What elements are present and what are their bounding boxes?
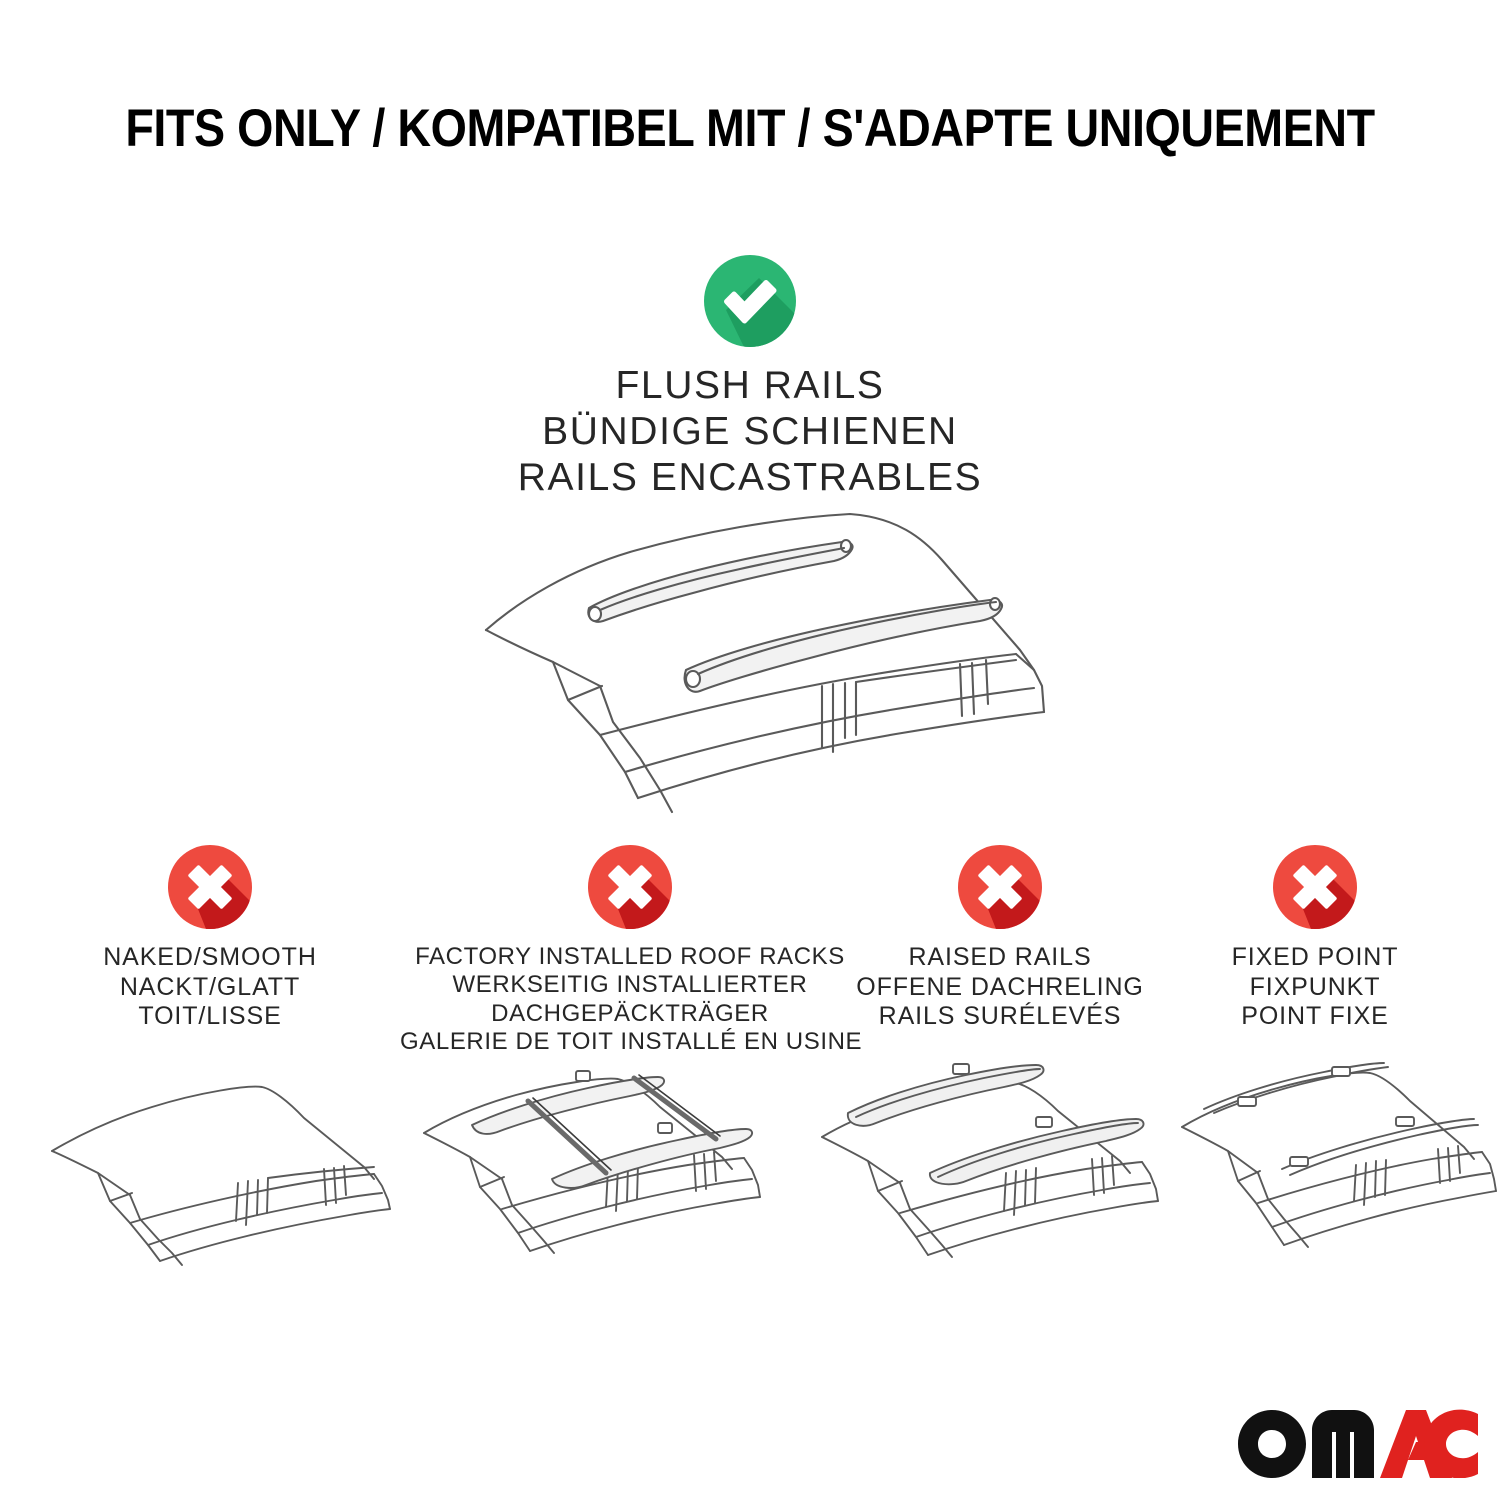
incompatible-labels: FIXED POINT FIXPUNKT POINT FIXE <box>1165 943 1465 1032</box>
incompatible-label-de: FIXPUNKT <box>1165 973 1465 1003</box>
check-mark-glyph <box>704 255 796 347</box>
incompatible-label-en: FIXED POINT <box>1165 943 1465 973</box>
check-circle-icon <box>704 255 796 347</box>
incompatible-labels: RAISED RAILS OFFENE DACHRELING RAILS SUR… <box>840 943 1160 1032</box>
incompatible-column-fixed-point: FIXED POINT FIXPUNKT POINT FIXE <box>1165 845 1465 1032</box>
car-roof-fixed-point-illustration <box>1178 1055 1498 1285</box>
incompatible-label-en: NAKED/SMOOTH <box>40 943 380 973</box>
incompatible-column-raised-rails: RAISED RAILS OFFENE DACHRELING RAILS SUR… <box>840 845 1160 1032</box>
car-roof-raised-rails-illustration <box>818 1055 1198 1285</box>
x-icon-shadow <box>958 845 1042 929</box>
car-roof-flush-rails-illustration <box>450 490 1070 820</box>
compatible-label-de: BÜNDIGE SCHIENEN <box>400 409 1100 455</box>
incompatible-column-naked-smooth: NAKED/SMOOTH NACKT/GLATT TOIT/LISSE <box>40 845 380 1032</box>
incompatible-label-fr: POINT FIXE <box>1165 1002 1465 1032</box>
compatible-section: FLUSH RAILS BÜNDIGE SCHIENEN RAILS ENCAS… <box>400 255 1100 501</box>
incompatible-illustrations <box>0 1055 1500 1285</box>
incompatible-label-de: OFFENE DACHRELING <box>840 973 1160 1003</box>
x-circle-icon <box>168 845 252 929</box>
incompatible-labels: NAKED/SMOOTH NACKT/GLATT TOIT/LISSE <box>40 943 380 1032</box>
page-title: FITS ONLY / KOMPATIBEL MIT / S'ADAPTE UN… <box>90 98 1410 159</box>
logo-letter-m <box>1312 1410 1374 1478</box>
car-roof-naked-smooth-illustration <box>48 1055 408 1285</box>
incompatible-label-fr: RAILS SURÉLEVÉS <box>840 1002 1160 1032</box>
incompatible-label-de: NACKT/GLATT <box>40 973 380 1003</box>
incompatible-row: NAKED/SMOOTH NACKT/GLATT TOIT/LISSE FACT… <box>0 845 1500 1045</box>
incompatible-label-fr: TOIT/LISSE <box>40 1002 380 1032</box>
x-circle-icon <box>1273 845 1357 929</box>
compatibility-infographic: FITS ONLY / KOMPATIBEL MIT / S'ADAPTE UN… <box>0 0 1500 1500</box>
omac-logo-mark <box>1238 1408 1478 1478</box>
compatible-label-en: FLUSH RAILS <box>400 363 1100 409</box>
incompatible-labels: FACTORY INSTALLED ROOF RACKS WERKSEITIG … <box>400 943 860 1056</box>
car-roof-factory-roof-racks-illustration <box>420 1055 800 1285</box>
x-icon-shadow <box>168 845 252 929</box>
incompatible-label-fr: GALERIE DE TOIT INSTALLÉ EN USINE <box>400 1028 860 1056</box>
incompatible-label-de-2: DACHGEPÄCKTRÄGER <box>400 1000 860 1028</box>
compatible-labels: FLUSH RAILS BÜNDIGE SCHIENEN RAILS ENCAS… <box>400 363 1100 501</box>
logo-letter-o <box>1238 1410 1306 1478</box>
incompatible-label-en: FACTORY INSTALLED ROOF RACKS <box>400 943 860 971</box>
omac-logo <box>1238 1408 1478 1478</box>
incompatible-label-de-1: WERKSEITIG INSTALLIERTER <box>400 971 860 999</box>
incompatible-label-en: RAISED RAILS <box>840 943 1160 973</box>
x-circle-icon <box>588 845 672 929</box>
incompatible-column-factory-roof-racks: FACTORY INSTALLED ROOF RACKS WERKSEITIG … <box>400 845 860 1056</box>
x-icon-shadow <box>588 845 672 929</box>
x-icon-shadow <box>1273 845 1357 929</box>
x-circle-icon <box>958 845 1042 929</box>
